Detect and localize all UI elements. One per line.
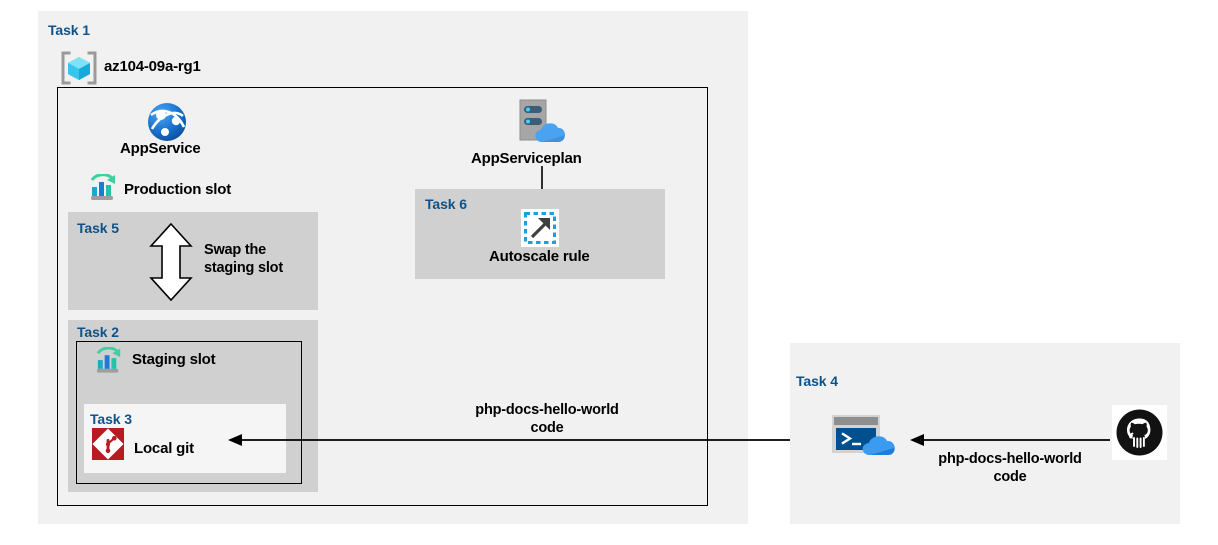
github-to-cloud-shell-arrow <box>910 430 1110 450</box>
task-6-label: Task 6 <box>425 196 467 212</box>
resource-group-name: az104-09a-rg1 <box>104 58 201 75</box>
task-4-code-label: php-docs-hello-world code <box>923 450 1097 486</box>
appserviceplan-server-cloud-icon <box>512 98 572 148</box>
task-4-label: Task 4 <box>796 373 838 389</box>
task-3-label: Task 3 <box>90 411 132 427</box>
swap-double-arrow-icon <box>148 222 194 302</box>
appserviceplan-label: AppServiceplan <box>471 150 582 167</box>
swap-action-label: Swap the staging slot <box>204 241 314 277</box>
task-4-code-line-2: code <box>993 469 1026 485</box>
autoscale-rule-label: Autoscale rule <box>489 248 590 265</box>
center-code-line-2: code <box>530 420 563 436</box>
github-octocat-icon <box>1112 405 1167 460</box>
swap-label-line-2: staging slot <box>204 260 283 276</box>
task-1-label: Task 1 <box>48 22 90 38</box>
appservice-globe-icon <box>146 101 188 143</box>
autoscale-arrow-icon <box>521 209 559 247</box>
swap-label-line-1: Swap the <box>204 242 266 258</box>
git-icon <box>92 428 124 460</box>
task-4-code-line-1: php-docs-hello-world <box>938 451 1081 467</box>
task-5-label: Task 5 <box>77 220 119 236</box>
appservice-label: AppService <box>120 140 201 157</box>
deployment-slot-chart-icon <box>94 347 126 377</box>
cloud-shell-terminal-icon <box>830 413 902 463</box>
task-2-label: Task 2 <box>77 324 119 340</box>
diagram-canvas: Task 1 az104-09a-rg1 <box>0 0 1218 545</box>
production-slot-label: Production slot <box>124 181 231 198</box>
local-git-label: Local git <box>134 440 194 457</box>
center-code-line-1: php-docs-hello-world <box>475 402 618 418</box>
center-code-label: php-docs-hello-world code <box>462 401 632 437</box>
staging-slot-label: Staging slot <box>132 351 215 368</box>
resource-group-cube-icon <box>60 50 98 86</box>
deployment-slot-chart-icon <box>88 174 121 204</box>
